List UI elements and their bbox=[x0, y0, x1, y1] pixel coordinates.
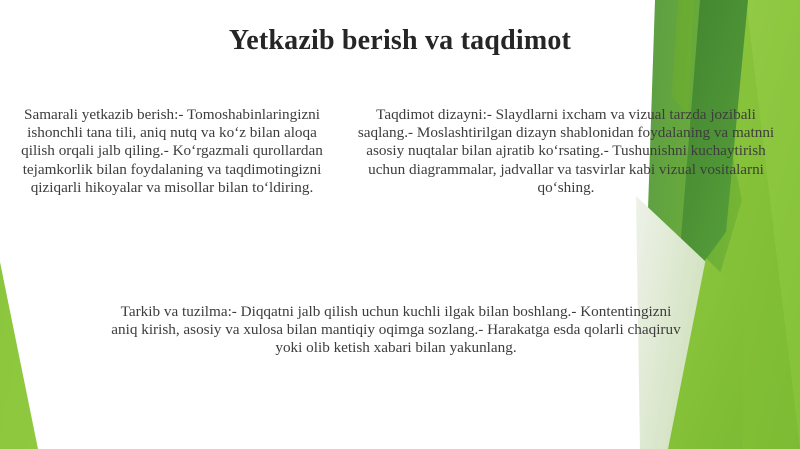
right-green-shapes bbox=[636, 0, 800, 449]
presentation-slide: Yetkazib berish va taqdimot Samarali yet… bbox=[0, 0, 800, 449]
green-band-right bbox=[690, 0, 800, 449]
green-decoration-graphic bbox=[0, 0, 800, 449]
text-block-structure: Tarkib va tuzilma:- Diqqatni jalb qilish… bbox=[106, 303, 686, 358]
green-sliver-top bbox=[672, 0, 694, 118]
green-band-dark-left bbox=[640, 0, 742, 449]
green-band-far-right bbox=[726, 0, 800, 449]
text-block-delivery: Samarali yetkazib berish:- Tomoshabinlar… bbox=[16, 106, 328, 197]
page-title: Yetkazib berish va taqdimot bbox=[60, 24, 740, 58]
text-block-design: Taqdimot dizayni:- Slaydlarni ixcham va … bbox=[348, 106, 784, 197]
left-corner-wedge bbox=[0, 262, 38, 449]
